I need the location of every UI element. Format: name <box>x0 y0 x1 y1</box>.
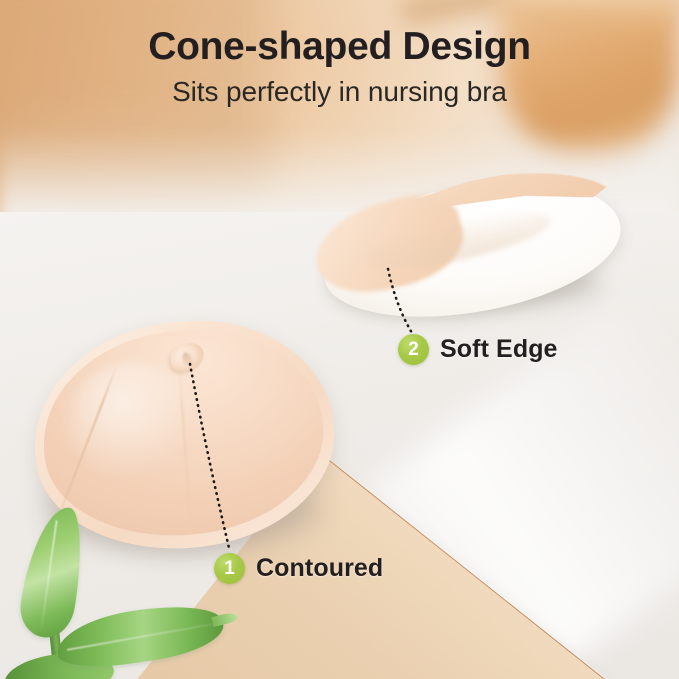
callout-contoured: 1 Contoured <box>214 553 383 584</box>
callout-soft-edge: 2 Soft Edge <box>398 334 558 365</box>
callout-label-2: Soft Edge <box>440 335 558 364</box>
callout-badge-2: 2 <box>398 334 429 365</box>
page-subtitle: Sits perfectly in nursing bra <box>0 76 679 108</box>
leader-line-1 <box>190 364 229 548</box>
callout-badge-1: 1 <box>214 553 245 584</box>
page-title: Cone-shaped Design <box>0 26 679 69</box>
heading-block: Cone-shaped Design Sits perfectly in nur… <box>0 26 679 108</box>
leader-line-2 <box>388 269 412 333</box>
product-feature-image: 1 Contoured 2 Soft Edge Cone-shaped Desi… <box>0 0 679 679</box>
callout-label-1: Contoured <box>256 554 383 583</box>
